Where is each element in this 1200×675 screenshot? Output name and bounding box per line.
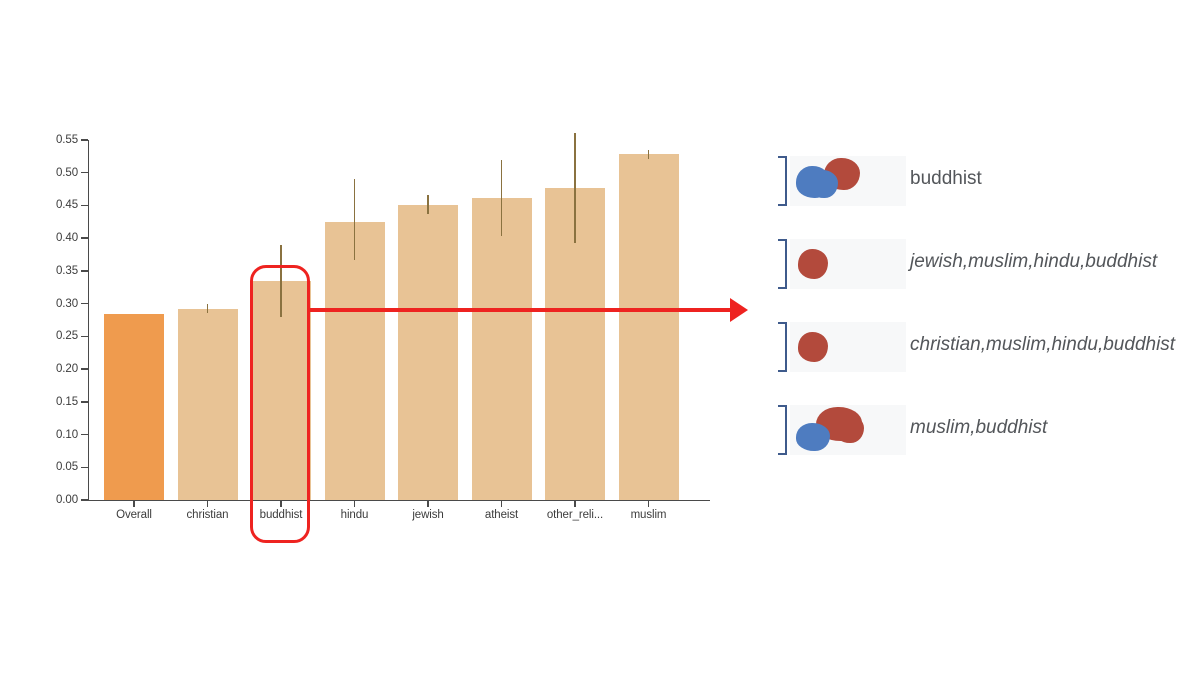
highlight-box-buddhist	[250, 265, 310, 543]
error-bar	[574, 133, 575, 243]
bracket-icon	[778, 156, 787, 206]
legend-item[interactable]: muslim,buddhist	[770, 399, 1200, 457]
error-bar	[648, 150, 649, 159]
legend-panel: buddhistjewish,muslim,hindu,buddhistchri…	[770, 150, 1200, 482]
x-axis-line	[88, 500, 710, 501]
callout-arrow-head-icon	[730, 298, 748, 322]
legend-item-label: buddhist	[910, 168, 982, 190]
y-tick	[81, 368, 88, 369]
callout-arrow-line	[310, 308, 734, 312]
x-tick	[501, 500, 502, 507]
error-bar	[207, 304, 208, 314]
bar-jewish[interactable]	[398, 205, 458, 500]
bracket-icon	[778, 239, 787, 289]
y-tick-label: 0.50	[34, 167, 78, 179]
y-tick	[81, 270, 88, 271]
y-tick-label: 0.35	[34, 265, 78, 277]
y-tick	[81, 467, 88, 468]
legend-item[interactable]: jewish,muslim,hindu,buddhist	[770, 233, 1200, 291]
legend-item[interactable]: christian,muslim,hindu,buddhist	[770, 316, 1200, 374]
bar-atheist[interactable]	[472, 198, 532, 500]
legend-item[interactable]: buddhist	[770, 150, 1200, 208]
legend-item-label: christian,muslim,hindu,buddhist	[910, 334, 1175, 356]
y-tick	[81, 336, 88, 337]
y-tick-label: 0.20	[34, 363, 78, 375]
y-tick	[81, 172, 88, 173]
bar-hindu[interactable]	[325, 222, 385, 500]
bracket-icon	[778, 405, 787, 455]
y-tick	[81, 499, 88, 500]
y-tick-label: 0.40	[34, 232, 78, 244]
segmentation-thumbnail	[790, 239, 906, 289]
x-tick	[427, 500, 428, 507]
plot-area	[104, 140, 696, 500]
legend-item-label: muslim,buddhist	[910, 417, 1047, 439]
blob-red-icon	[798, 249, 828, 279]
x-tick	[574, 500, 575, 507]
y-axis-line	[88, 140, 89, 500]
segmentation-thumbnail	[790, 405, 906, 455]
x-tick	[648, 500, 649, 507]
blob-red-icon	[798, 332, 828, 362]
bar-muslim[interactable]	[619, 154, 679, 500]
y-tick	[81, 401, 88, 402]
blob-red-icon	[834, 415, 864, 443]
y-tick-label: 0.25	[34, 330, 78, 342]
y-tick-label: 0.10	[34, 429, 78, 441]
y-tick	[81, 205, 88, 206]
segmentation-thumbnail	[790, 322, 906, 372]
bracket-icon	[778, 322, 787, 372]
x-tick	[133, 500, 134, 507]
bar-overall[interactable]	[104, 314, 164, 500]
y-tick	[81, 434, 88, 435]
bar-christian[interactable]	[178, 309, 238, 500]
y-tick-label: 0.55	[34, 134, 78, 146]
error-bar	[427, 195, 428, 214]
legend-item-label: jewish,muslim,hindu,buddhist	[910, 251, 1157, 273]
blob-blue-icon	[796, 423, 830, 451]
error-bar	[354, 179, 355, 260]
x-tick-label: muslim	[606, 509, 692, 521]
y-tick-label: 0.30	[34, 298, 78, 310]
error-bar	[501, 160, 502, 235]
blob-blue-icon	[808, 170, 838, 198]
x-tick	[207, 500, 208, 507]
x-tick	[354, 500, 355, 507]
y-tick	[81, 237, 88, 238]
bar-chart-panel: 0.000.050.100.150.200.250.300.350.400.45…	[0, 0, 760, 675]
y-tick	[81, 139, 88, 140]
y-tick-label: 0.00	[34, 494, 78, 506]
y-tick-label: 0.05	[34, 461, 78, 473]
y-tick-label: 0.15	[34, 396, 78, 408]
segmentation-thumbnail	[790, 156, 906, 206]
y-tick-label: 0.45	[34, 199, 78, 211]
y-tick	[81, 303, 88, 304]
